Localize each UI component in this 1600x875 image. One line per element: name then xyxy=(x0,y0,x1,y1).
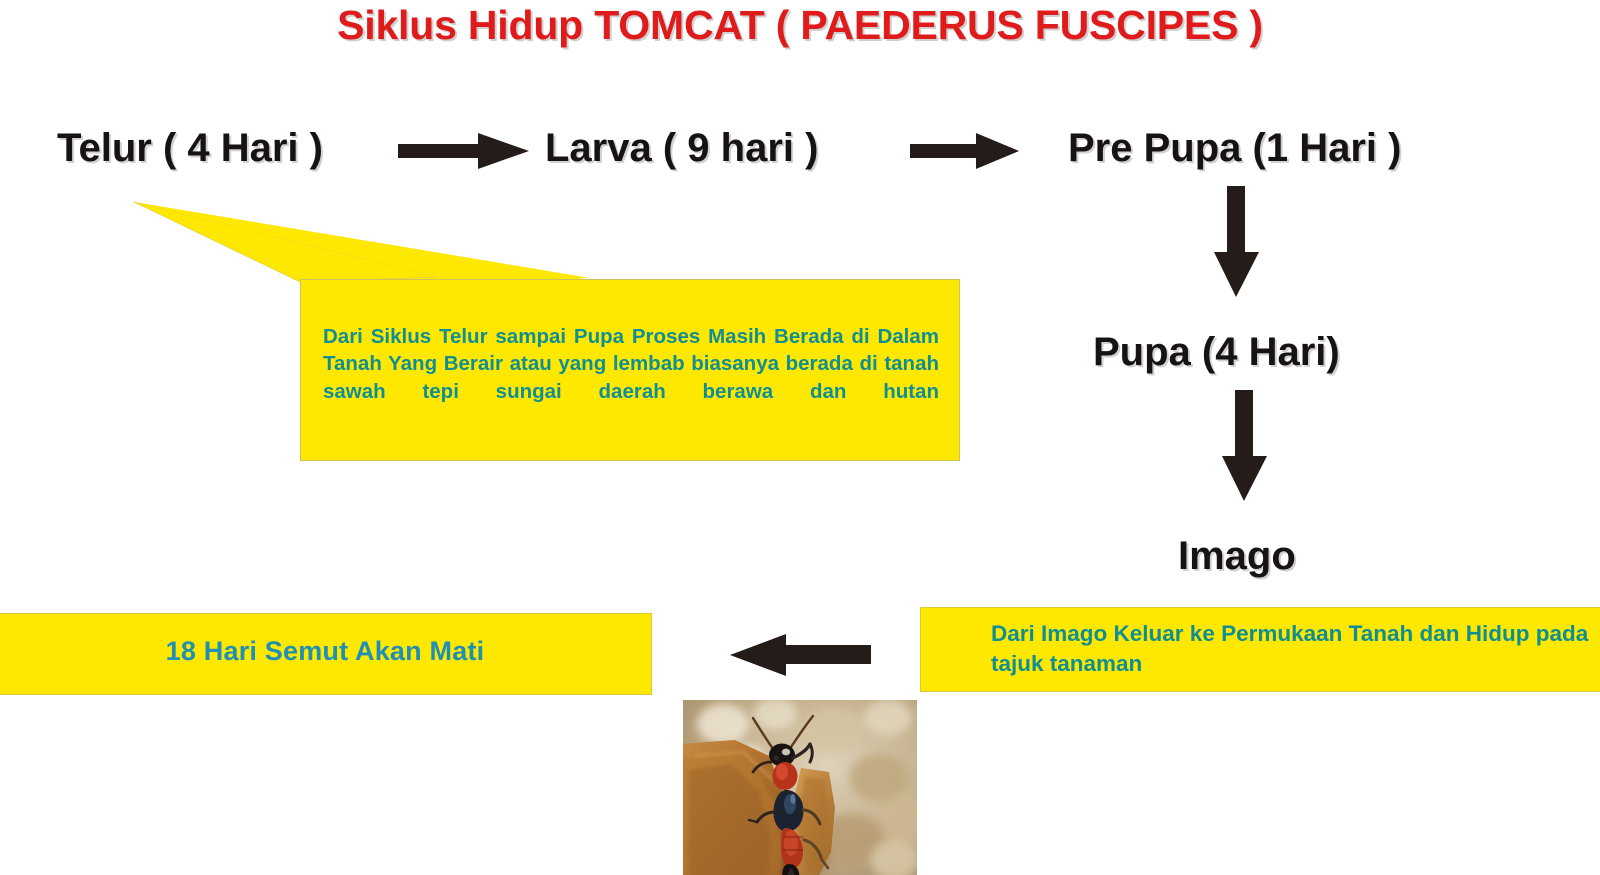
stage-label-larva: Larva ( 9 hari ) xyxy=(545,128,818,168)
callout-box-imago: Dari Imago Keluar ke Permukaan Tanah dan… xyxy=(920,607,1600,692)
arrow-pupa-to-imago-icon xyxy=(1222,390,1272,502)
arrow-prepupa-to-pupa-icon xyxy=(1214,186,1264,298)
callout-box-soil: Dari Siklus Telur sampai Pupa Proses Mas… xyxy=(300,279,960,461)
arrow-larva-to-prepupa-icon xyxy=(910,131,1020,171)
paederus-fuscipes-image xyxy=(683,700,917,875)
stage-label-telur: Telur ( 4 Hari ) xyxy=(57,128,323,168)
stage-label-pupa: Pupa (4 Hari) xyxy=(1093,332,1340,372)
callout-imago-text: Dari Imago Keluar ke Permukaan Tanah dan… xyxy=(991,619,1593,680)
stage-label-imago: Imago xyxy=(1178,536,1296,576)
arrow-imago-to-mati-icon xyxy=(730,633,872,677)
stage-label-pre-pupa: Pre Pupa (1 Hari ) xyxy=(1068,128,1401,168)
diagram-canvas: Siklus Hidup TOMCAT ( PAEDERUS FUSCIPES … xyxy=(0,0,1600,875)
arrow-telur-to-larva-icon xyxy=(398,131,530,171)
callout-mati-text: 18 Hari Semut Akan Mati xyxy=(0,636,651,667)
beetle-photo xyxy=(683,700,917,875)
page-title: Siklus Hidup TOMCAT ( PAEDERUS FUSCIPES … xyxy=(0,2,1600,49)
callout-soil-text: Dari Siklus Telur sampai Pupa Proses Mas… xyxy=(323,323,939,432)
callout-box-mati: 18 Hari Semut Akan Mati xyxy=(0,613,652,695)
